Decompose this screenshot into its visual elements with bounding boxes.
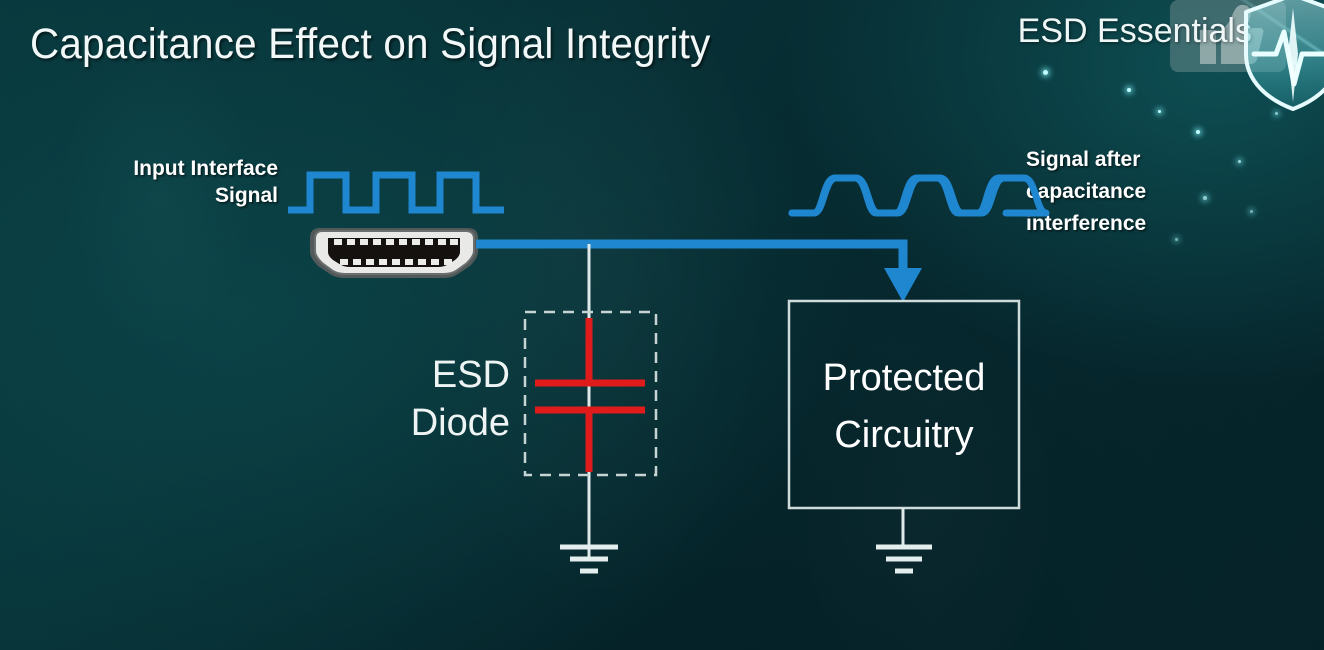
signal-flow-arrow-icon <box>476 244 922 302</box>
slide-canvas: Capacitance Effect on Signal Integrity E… <box>0 0 1324 650</box>
hdmi-connector-icon <box>310 228 478 278</box>
protected-circuitry-box <box>789 301 1019 508</box>
circuit-diagram <box>0 0 1324 650</box>
distorted-rounded-wave <box>792 178 1046 213</box>
input-square-wave <box>288 175 504 210</box>
ground-symbol-icon <box>876 508 932 571</box>
